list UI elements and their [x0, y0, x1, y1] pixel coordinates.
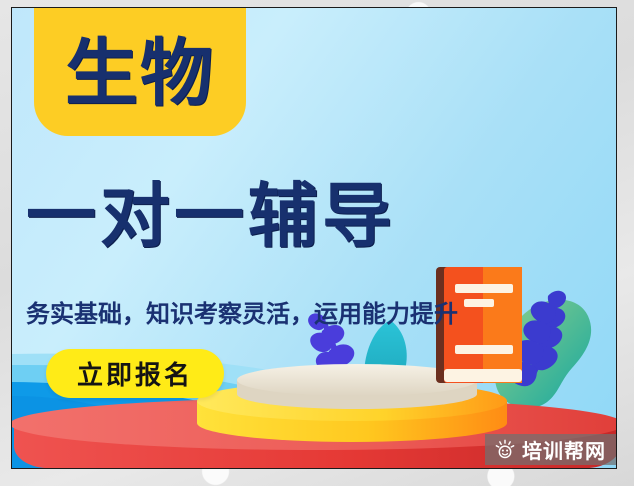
screenshot-canvas: 生物 一对一辅导 务实基础，知识考察灵活，运用能力提升 立即报名 培训帮网: [0, 0, 634, 486]
watermark-label: 培训帮网: [522, 435, 606, 464]
category-badge: 生物: [34, 7, 246, 136]
page-title: 一对一辅导: [26, 181, 496, 251]
enroll-now-button[interactable]: 立即报名: [46, 349, 224, 398]
course-promo-banner: 生物 一对一辅导 务实基础，知识考察灵活，运用能力提升 立即报名 培训帮网: [11, 7, 617, 469]
watermark: 培训帮网: [485, 434, 616, 465]
subtitle-text: 务实基础，知识考察灵活，运用能力提升: [26, 294, 458, 329]
category-badge-label: 生物: [65, 37, 215, 110]
sun-face-icon: [494, 439, 516, 461]
enroll-now-button-label: 立即报名: [77, 355, 193, 392]
